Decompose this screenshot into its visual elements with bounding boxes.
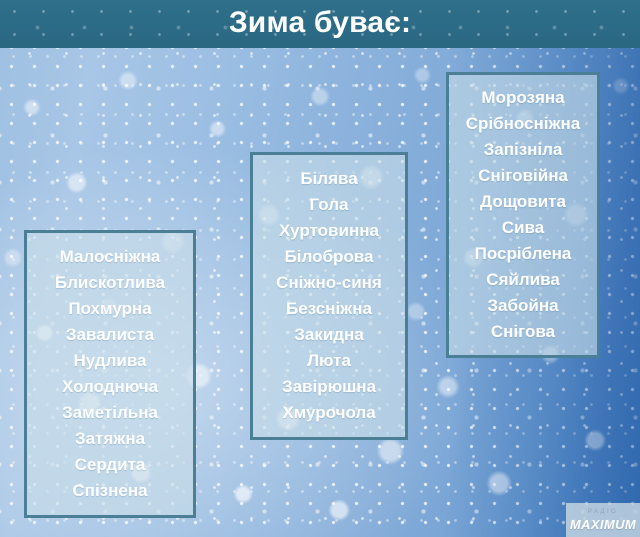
word-item: Хмурочола bbox=[282, 400, 375, 426]
watermark-logo: РАДІО MAXIMUM bbox=[566, 503, 640, 537]
word-item: Спізнена bbox=[72, 478, 147, 504]
word-list-column-2: Білява Гола Хуртовинна Білоброва Сніжно-… bbox=[250, 152, 408, 440]
word-item: Завірюшна bbox=[282, 374, 376, 400]
word-item: Закидна bbox=[294, 322, 364, 348]
word-item: Срібносніжна bbox=[466, 111, 581, 137]
page-title: Зима буває: bbox=[0, 0, 640, 48]
word-item: Затяжна bbox=[75, 426, 145, 452]
watermark-top-label: РАДІО bbox=[588, 508, 618, 517]
word-list-column-3: Морозяна Срібносніжна Запізніла Сніговій… bbox=[446, 72, 600, 358]
word-item: Посріблена bbox=[475, 241, 572, 267]
word-item: Завалиста bbox=[66, 322, 154, 348]
word-list-column-1: Малосніжна Блискотлива Похмурна Завалист… bbox=[24, 230, 196, 518]
word-item: Дощовита bbox=[480, 189, 566, 215]
title-band: Зима буває: bbox=[0, 0, 640, 48]
word-item: Снігова bbox=[491, 319, 555, 345]
word-item: Заметільна bbox=[62, 400, 158, 426]
word-item: Сніговійна bbox=[478, 163, 568, 189]
word-item: Гола bbox=[309, 192, 348, 218]
word-item: Люта bbox=[307, 348, 351, 374]
word-item: Морозяна bbox=[481, 85, 564, 111]
word-item: Білява bbox=[300, 166, 357, 192]
word-item: Забойна bbox=[487, 293, 558, 319]
word-item: Безсніжна bbox=[286, 296, 372, 322]
word-item: Запізніла bbox=[484, 137, 563, 163]
word-item: Малосніжна bbox=[60, 244, 161, 270]
word-item: Сніжно-синя bbox=[276, 270, 382, 296]
word-item: Сяйлива bbox=[486, 267, 560, 293]
watermark-main-label: MAXIMUM bbox=[570, 517, 636, 532]
word-item: Сива bbox=[502, 215, 544, 241]
word-item: Похмурна bbox=[68, 296, 151, 322]
word-item: Білоброва bbox=[285, 244, 374, 270]
word-item: Блискотлива bbox=[55, 270, 165, 296]
word-item: Сердита bbox=[75, 452, 146, 478]
word-item: Холоднюча bbox=[62, 374, 158, 400]
word-item: Нудлива bbox=[73, 348, 146, 374]
slide-canvas: Зима буває: Малосніжна Блискотлива Похму… bbox=[0, 0, 640, 537]
word-item: Хуртовинна bbox=[279, 218, 379, 244]
